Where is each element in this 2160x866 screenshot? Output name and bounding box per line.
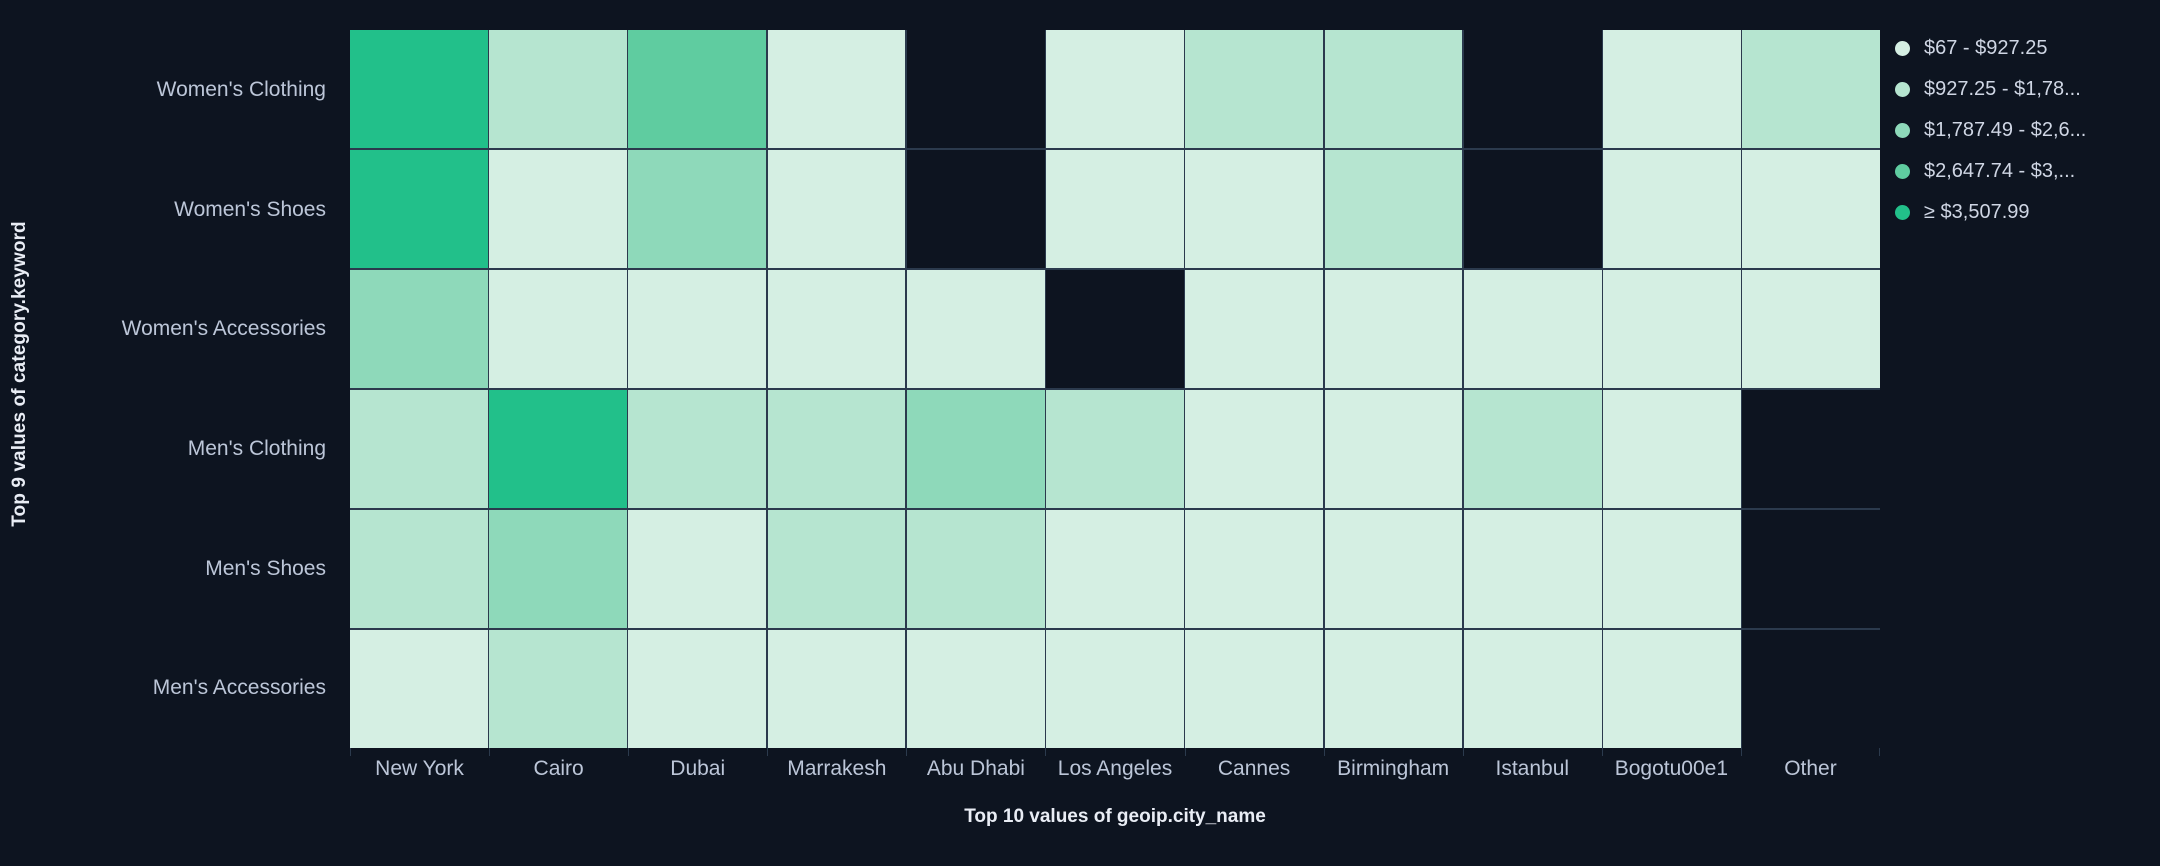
heatmap-cell[interactable] xyxy=(1185,390,1323,508)
heatmap-cell[interactable] xyxy=(1603,390,1741,508)
heatmap-cell[interactable] xyxy=(1742,630,1880,748)
heatmap-cell[interactable] xyxy=(1185,150,1323,268)
heatmap-cell[interactable] xyxy=(1464,510,1602,628)
x-axis-tick-label: Other xyxy=(1741,752,1880,786)
x-axis-tick-label: Cannes xyxy=(1185,752,1324,786)
heatmap-cell[interactable] xyxy=(1603,630,1741,748)
x-axis-tick-label: New York xyxy=(350,752,489,786)
x-axis-title: Top 10 values of geoip.city_name xyxy=(350,806,1880,828)
heatmap-cell[interactable] xyxy=(489,630,627,748)
heatmap-cell[interactable] xyxy=(1603,30,1741,148)
heatmap-cell[interactable] xyxy=(1742,510,1880,628)
legend-item[interactable]: $2,647.74 - $3,... xyxy=(1895,151,2145,192)
heatmap-cell[interactable] xyxy=(350,510,488,628)
legend-swatch-icon xyxy=(1895,164,1910,179)
legend-label: $67 - $927.25 xyxy=(1924,37,2047,60)
heatmap-cell[interactable] xyxy=(1464,150,1602,268)
heatmap-cell[interactable] xyxy=(628,630,766,748)
heatmap-cell[interactable] xyxy=(1325,510,1463,628)
heatmap-cell[interactable] xyxy=(768,630,906,748)
heatmap-cell[interactable] xyxy=(1325,630,1463,748)
heatmap-cell[interactable] xyxy=(1185,630,1323,748)
y-axis-tick-label: Men's Clothing xyxy=(40,389,340,509)
legend-swatch-icon xyxy=(1895,205,1910,220)
heatmap-cell[interactable] xyxy=(1603,150,1741,268)
x-axis-tick-label: Birmingham xyxy=(1324,752,1463,786)
heatmap-cell[interactable] xyxy=(350,630,488,748)
heatmap-cell[interactable] xyxy=(628,390,766,508)
heatmap-cell[interactable] xyxy=(1464,390,1602,508)
heatmap-cell[interactable] xyxy=(1046,510,1184,628)
y-axis-tick-label: Men's Shoes xyxy=(40,509,340,629)
heatmap-cell[interactable] xyxy=(1742,390,1880,508)
heatmap-cell[interactable] xyxy=(628,30,766,148)
heatmap-cell[interactable] xyxy=(1046,30,1184,148)
heatmap-cell[interactable] xyxy=(1464,630,1602,748)
heatmap-cell[interactable] xyxy=(768,30,906,148)
heatmap-grid xyxy=(350,30,1880,748)
heatmap-cell[interactable] xyxy=(907,150,1045,268)
heatmap-cell[interactable] xyxy=(628,150,766,268)
legend-label: $2,647.74 - $3,... xyxy=(1924,160,2075,183)
heatmap-cell[interactable] xyxy=(489,150,627,268)
legend-swatch-icon xyxy=(1895,123,1910,138)
heatmap-cell[interactable] xyxy=(489,510,627,628)
heatmap-cell[interactable] xyxy=(1603,510,1741,628)
legend-label: $1,787.49 - $2,6... xyxy=(1924,119,2086,142)
heatmap-cell[interactable] xyxy=(489,30,627,148)
heatmap-cell[interactable] xyxy=(1603,270,1741,388)
heatmap-cell[interactable] xyxy=(1325,390,1463,508)
heatmap-cell[interactable] xyxy=(768,510,906,628)
heatmap-cell[interactable] xyxy=(628,270,766,388)
legend-swatch-icon xyxy=(1895,41,1910,56)
x-axis-tick-label: Marrakesh xyxy=(767,752,906,786)
heatmap-cell[interactable] xyxy=(350,30,488,148)
heatmap-cell[interactable] xyxy=(907,30,1045,148)
legend-item[interactable]: ≥ $3,507.99 xyxy=(1895,192,2145,233)
heatmap-visualization: Top 9 values of category.keyword Women's… xyxy=(0,0,2160,866)
heatmap-cell[interactable] xyxy=(1046,270,1184,388)
heatmap-cell[interactable] xyxy=(1046,150,1184,268)
heatmap-cell[interactable] xyxy=(1325,270,1463,388)
heatmap-cell[interactable] xyxy=(907,270,1045,388)
heatmap-cell[interactable] xyxy=(350,270,488,388)
heatmap-cell[interactable] xyxy=(1742,270,1880,388)
y-axis-title-text: Top 9 values of category.keyword xyxy=(9,221,31,527)
heatmap-cell[interactable] xyxy=(1046,390,1184,508)
x-axis-tick-label: Bogotu00e1 xyxy=(1602,752,1741,786)
legend-item[interactable]: $1,787.49 - $2,6... xyxy=(1895,110,2145,151)
legend-item[interactable]: $927.25 - $1,78... xyxy=(1895,69,2145,110)
heatmap-cell[interactable] xyxy=(1185,510,1323,628)
heatmap-cell[interactable] xyxy=(1046,630,1184,748)
heatmap-cell[interactable] xyxy=(1325,30,1463,148)
heatmap-cell[interactable] xyxy=(907,510,1045,628)
x-axis-tick-label: Istanbul xyxy=(1463,752,1602,786)
heatmap-cell[interactable] xyxy=(907,390,1045,508)
y-axis-tick-label: Men's Accessories xyxy=(40,628,340,748)
x-axis-tick-label: Abu Dhabi xyxy=(906,752,1045,786)
legend-swatch-icon xyxy=(1895,82,1910,97)
heatmap-cell[interactable] xyxy=(350,390,488,508)
heatmap-cell[interactable] xyxy=(489,270,627,388)
x-axis-tick-label: Cairo xyxy=(489,752,628,786)
heatmap-cell[interactable] xyxy=(1185,30,1323,148)
legend-label: ≥ $3,507.99 xyxy=(1924,201,2030,224)
heatmap-cell[interactable] xyxy=(489,390,627,508)
heatmap-cell[interactable] xyxy=(768,150,906,268)
heatmap-cell[interactable] xyxy=(907,630,1045,748)
y-axis-tick-label: Women's Shoes xyxy=(40,150,340,270)
x-axis-tick-label: Los Angeles xyxy=(1045,752,1184,786)
y-axis-tick-labels: Women's ClothingWomen's ShoesWomen's Acc… xyxy=(40,30,340,748)
heatmap-cell[interactable] xyxy=(1464,270,1602,388)
heatmap-cell[interactable] xyxy=(628,510,766,628)
x-axis-tick-labels: New YorkCairoDubaiMarrakeshAbu DhabiLos … xyxy=(350,752,1880,786)
heatmap-cell[interactable] xyxy=(350,150,488,268)
heatmap-cell[interactable] xyxy=(1464,30,1602,148)
heatmap-cell[interactable] xyxy=(1742,30,1880,148)
legend-item[interactable]: $67 - $927.25 xyxy=(1895,28,2145,69)
y-axis-title: Top 9 values of category.keyword xyxy=(0,0,40,748)
legend: $67 - $927.25$927.25 - $1,78...$1,787.49… xyxy=(1895,28,2145,233)
heatmap-cell[interactable] xyxy=(1742,150,1880,268)
heatmap-cell[interactable] xyxy=(1325,150,1463,268)
heatmap-cell[interactable] xyxy=(768,390,906,508)
heatmap-cell[interactable] xyxy=(1185,270,1323,388)
legend-label: $927.25 - $1,78... xyxy=(1924,78,2081,101)
heatmap-cell[interactable] xyxy=(768,270,906,388)
y-axis-tick-label: Women's Accessories xyxy=(40,269,340,389)
x-axis-tick-label: Dubai xyxy=(628,752,767,786)
y-axis-tick-label: Women's Clothing xyxy=(40,30,340,150)
